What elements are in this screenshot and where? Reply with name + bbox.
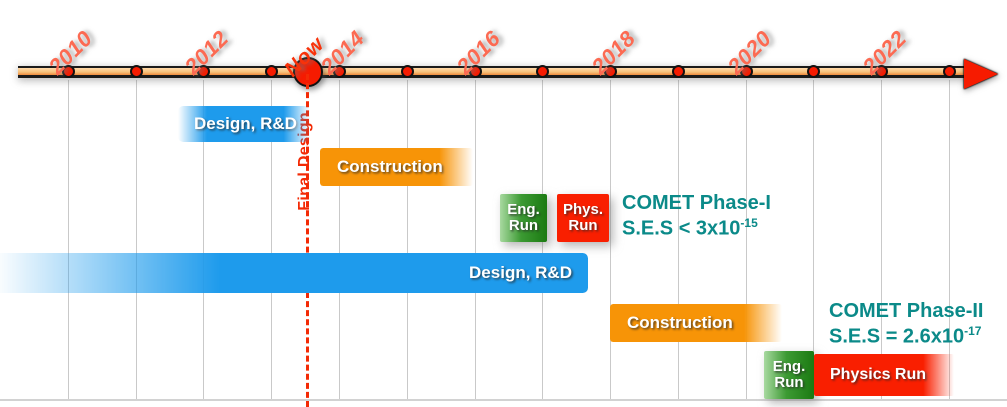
phase2-eng-run-line1: Eng.	[773, 359, 806, 375]
phase2-physics-run-bar[interactable]: Physics Run	[814, 354, 954, 396]
gridline	[407, 80, 408, 400]
phase1-phys-run-line1: Phys.	[563, 202, 603, 218]
axis-arrow-icon	[964, 59, 998, 89]
gridline	[136, 80, 137, 400]
phase1-eng-run-line2: Run	[509, 218, 538, 234]
phase1-note-ses-text: S.E.S < 3x10	[622, 217, 740, 239]
axis-tick-dot	[130, 65, 143, 78]
phase2-eng-run-line2: Run	[774, 375, 803, 391]
phase1-eng-run-bar[interactable]: Eng. Run	[500, 194, 547, 242]
gridline	[610, 80, 611, 400]
phase1-phys-run-bar[interactable]: Phys. Run	[557, 194, 609, 242]
gridline	[881, 80, 882, 400]
phase2-note-ses-text: S.E.S = 2.6x10	[829, 325, 964, 347]
axis-tick-dot	[672, 65, 685, 78]
phase1-phys-run-line2: Run	[568, 218, 597, 234]
phase2-construction-bar[interactable]: Construction	[610, 304, 782, 342]
phase1-design-label: Design, R&D	[194, 114, 297, 134]
axis-tick-dot	[401, 65, 414, 78]
phase2-note-ses-exponent: -17	[964, 324, 981, 338]
phase2-design-bar[interactable]: Design, R&D	[0, 253, 588, 293]
phase2-eng-run-bar[interactable]: Eng. Run	[764, 351, 814, 399]
axis-tick-dot	[807, 65, 820, 78]
gridline	[68, 80, 69, 400]
phase1-construction-label: Construction	[337, 157, 443, 177]
phase1-annotation: COMET Phase-I S.E.S < 3x10-15	[622, 192, 771, 241]
gridline	[949, 80, 950, 400]
gridline	[339, 80, 340, 400]
axis-tick-dot	[536, 65, 549, 78]
phase1-construction-bar[interactable]: Construction	[320, 148, 473, 186]
phase2-design-label: Design, R&D	[469, 263, 572, 283]
phase2-construction-label: Construction	[627, 313, 733, 333]
phase2-note-ses: S.E.S = 2.6x10-17	[829, 324, 983, 349]
phase2-note-title: COMET Phase-II	[829, 300, 983, 324]
axis-line	[18, 66, 978, 78]
phase1-design-bar[interactable]: Design, R&D	[178, 106, 310, 142]
axis-tick-dot	[943, 65, 956, 78]
phase1-note-ses: S.E.S < 3x10-15	[622, 216, 771, 241]
phase1-eng-run-line1: Eng.	[507, 202, 540, 218]
phase2-annotation: COMET Phase-II S.E.S = 2.6x10-17	[829, 300, 983, 349]
phase1-note-title: COMET Phase-I	[622, 192, 771, 216]
phase1-note-ses-exponent: -15	[740, 216, 757, 230]
phase2-physics-run-label: Physics Run	[830, 366, 926, 384]
gridline	[475, 80, 476, 400]
axis-tick-dot	[265, 65, 278, 78]
timeline-chart: 2010 2012 Now 2014 2016 2018 2020 2022 F…	[0, 0, 1007, 407]
time-axis	[0, 60, 1007, 90]
baseline-rule	[0, 399, 1007, 401]
